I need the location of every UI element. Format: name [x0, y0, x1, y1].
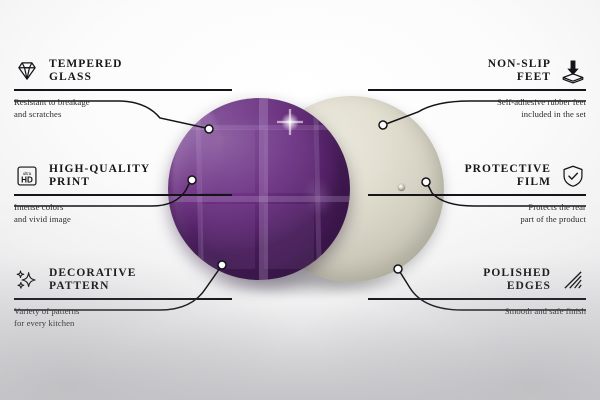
feature-header: PROTECTIVE FILM [368, 163, 586, 189]
title-line-2: GLASS [49, 71, 122, 84]
diamond-icon [14, 58, 40, 84]
divider [14, 298, 232, 300]
press-down-arrow-icon [560, 58, 586, 84]
sparkles-icon [14, 267, 40, 293]
feature-title: POLISHED EDGES [483, 267, 551, 293]
divider [368, 298, 586, 300]
desc-line-2: part of the product [368, 213, 586, 225]
desc-line-2: for every kitchen [14, 317, 232, 329]
feature-title: HIGH-QUALITY PRINT [49, 163, 150, 189]
title-line-2: PRINT [49, 176, 150, 189]
title-line-1: NON-SLIP [488, 58, 551, 71]
feature-polished-edges: POLISHED EDGES Smooth and safe finish [368, 267, 586, 317]
feature-non-slip-feet: NON-SLIP FEET Self-adhesive rubber feet … [368, 58, 586, 120]
feature-header: POLISHED EDGES [368, 267, 586, 293]
desc-line-1: Variety of patterns [14, 305, 232, 317]
desc-line-1: Smooth and safe finish [368, 305, 586, 317]
ultra-hd-badge-icon: ultra HD [14, 163, 40, 189]
feature-header: ultra HD HIGH-QUALITY PRINT [14, 163, 232, 189]
desc-line-1: Self-adhesive rubber feet [368, 96, 586, 108]
feature-description: Variety of patterns for every kitchen [14, 305, 232, 329]
desc-line-2: included in the set [368, 108, 586, 120]
feature-description: Protects the rear part of the product [368, 201, 586, 225]
title-line-1: TEMPERED [49, 58, 122, 71]
divider [14, 89, 232, 91]
divider [368, 194, 586, 196]
feature-tempered-glass: TEMPERED GLASS Resistant to breakage and… [14, 58, 232, 120]
shield-check-icon [560, 163, 586, 189]
desc-line-2: and scratches [14, 108, 232, 120]
title-line-1: PROTECTIVE [465, 163, 551, 176]
diagonal-lines-icon [560, 267, 586, 293]
svg-text:HD: HD [21, 176, 33, 185]
feature-description: Intense colors and vivid image [14, 201, 232, 225]
divider [368, 89, 586, 91]
feature-header: TEMPERED GLASS [14, 58, 232, 84]
title-line-1: DECORATIVE [49, 267, 136, 280]
feature-title: DECORATIVE PATTERN [49, 267, 136, 293]
feature-header: NON-SLIP FEET [368, 58, 586, 84]
desc-line-1: Intense colors [14, 201, 232, 213]
feature-title: PROTECTIVE FILM [465, 163, 551, 189]
title-line-2: EDGES [483, 280, 551, 293]
divider [14, 194, 232, 196]
feature-decorative-pattern: DECORATIVE PATTERN Variety of patterns f… [14, 267, 232, 329]
infographic-canvas: TEMPERED GLASS Resistant to breakage and… [0, 0, 600, 400]
title-line-1: POLISHED [483, 267, 551, 280]
feature-description: Self-adhesive rubber feet included in th… [368, 96, 586, 120]
title-line-2: FEET [488, 71, 551, 84]
feature-protective-film: PROTECTIVE FILM Protects the rear part o… [368, 163, 586, 225]
title-line-2: FILM [465, 176, 551, 189]
title-line-1: HIGH-QUALITY [49, 163, 150, 176]
feature-high-quality-print: ultra HD HIGH-QUALITY PRINT Intense colo… [14, 163, 232, 225]
desc-line-1: Protects the rear [368, 201, 586, 213]
feature-description: Smooth and safe finish [368, 305, 586, 317]
feature-description: Resistant to breakage and scratches [14, 96, 232, 120]
desc-line-1: Resistant to breakage [14, 96, 232, 108]
title-line-2: PATTERN [49, 280, 136, 293]
desc-line-2: and vivid image [14, 213, 232, 225]
feature-title: TEMPERED GLASS [49, 58, 122, 84]
feature-header: DECORATIVE PATTERN [14, 267, 232, 293]
feature-title: NON-SLIP FEET [488, 58, 551, 84]
highlight-sparkle [277, 109, 303, 135]
